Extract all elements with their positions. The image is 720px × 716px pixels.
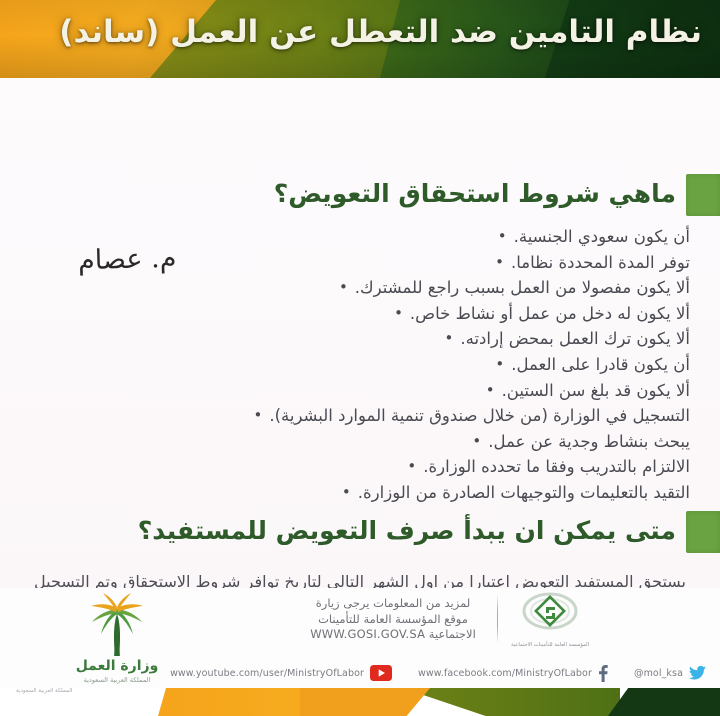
list-item: ألا يكون ترك العمل بمحض إرادته. bbox=[30, 326, 690, 352]
strip-orange-segment-two bbox=[300, 688, 430, 716]
accent-block-question-two bbox=[686, 511, 720, 553]
list-item: التقيد بالتعليمات والتوجيهات الصادرة من … bbox=[30, 480, 690, 506]
accent-block-question-one bbox=[686, 174, 720, 216]
gosi-logo: المؤسسة العامة للتأمينات الاجتماعية bbox=[498, 590, 602, 648]
youtube-url: www.youtube.com/user/MinistryOfLabor bbox=[170, 668, 364, 679]
ministry-of-labor-caption: وزارة العمل bbox=[52, 658, 182, 674]
twitter-handle: @mol_ksa bbox=[634, 668, 683, 679]
list-item: ألا يكون له دخل من عمل أو نشاط خاص. bbox=[30, 301, 690, 327]
gosi-note-line-2: موقع المؤسسة العامة للتأمينات bbox=[298, 612, 488, 628]
gosi-emblem-icon bbox=[520, 590, 580, 632]
list-item: أن يكون قادرا على العمل. bbox=[30, 352, 690, 378]
gosi-note-line-1: لمزيد من المعلومات يرجى زيارة bbox=[298, 596, 488, 612]
social-link-youtube[interactable]: www.youtube.com/user/MinistryOfLabor bbox=[170, 665, 392, 681]
strip-dark-segment bbox=[608, 688, 720, 716]
bottom-strip-caption: المملكة العربية السعودية bbox=[16, 688, 72, 694]
gosi-information-note: لمزيد من المعلومات يرجى زيارة موقع المؤس… bbox=[298, 596, 488, 643]
twitter-icon bbox=[689, 666, 706, 680]
gosi-website-url: الاجتماعية WWW.GOSI.GOV.SA bbox=[298, 627, 488, 643]
list-item: ألا يكون مفصولا من العمل بسبب راجع للمشت… bbox=[30, 275, 690, 301]
facebook-url: www.facebook.com/MinistryOfLabor bbox=[418, 668, 592, 679]
header-banner: نظام التامين ضد التعطل عن العمل (ساند) bbox=[0, 0, 720, 78]
footer: وزارة العمل المملكة العربية السعودية لمز… bbox=[0, 588, 720, 716]
youtube-icon bbox=[370, 665, 392, 681]
ministry-of-labor-logo: وزارة العمل المملكة العربية السعودية bbox=[52, 592, 182, 700]
author-watermark: م. عصام bbox=[78, 243, 177, 277]
list-item: التسجيل في الوزارة (من خلال صندوق تنمية … bbox=[30, 403, 690, 429]
list-item: الالتزام بالتدريب وفقا ما تحدده الوزارة. bbox=[30, 454, 690, 480]
bottom-color-strip: المملكة العربية السعودية bbox=[0, 688, 720, 716]
social-link-twitter[interactable]: @mol_ksa bbox=[634, 666, 706, 680]
ministry-of-labor-subcaption: المملكة العربية السعودية bbox=[52, 676, 182, 684]
palm-tree-icon bbox=[80, 592, 154, 660]
gosi-logo-caption: المؤسسة العامة للتأمينات الاجتماعية bbox=[498, 642, 602, 648]
facebook-icon bbox=[598, 665, 608, 682]
heading-eligibility-conditions: ماهي شروط استحقاق التعويض؟ bbox=[274, 179, 676, 208]
infographic-page: نظام التامين ضد التعطل عن العمل (ساند) م… bbox=[0, 0, 720, 716]
list-item: ألا يكون قد بلغ سن الستين. bbox=[30, 378, 690, 404]
social-links-bar: @mol_ksa www.facebook.com/MinistryOfLabo… bbox=[168, 662, 706, 684]
content-panel: ماهي شروط استحقاق التعويض؟ أن يكون سعودي… bbox=[0, 78, 720, 588]
heading-payment-start: متى يمكن ان يبدأ صرف التعويض للمستفيد؟ bbox=[138, 516, 676, 545]
page-title: نظام التامين ضد التعطل عن العمل (ساند) bbox=[60, 14, 702, 50]
social-link-facebook[interactable]: www.facebook.com/MinistryOfLabor bbox=[418, 665, 608, 682]
list-item: يبحث بنشاط وجدية عن عمل. bbox=[30, 429, 690, 455]
